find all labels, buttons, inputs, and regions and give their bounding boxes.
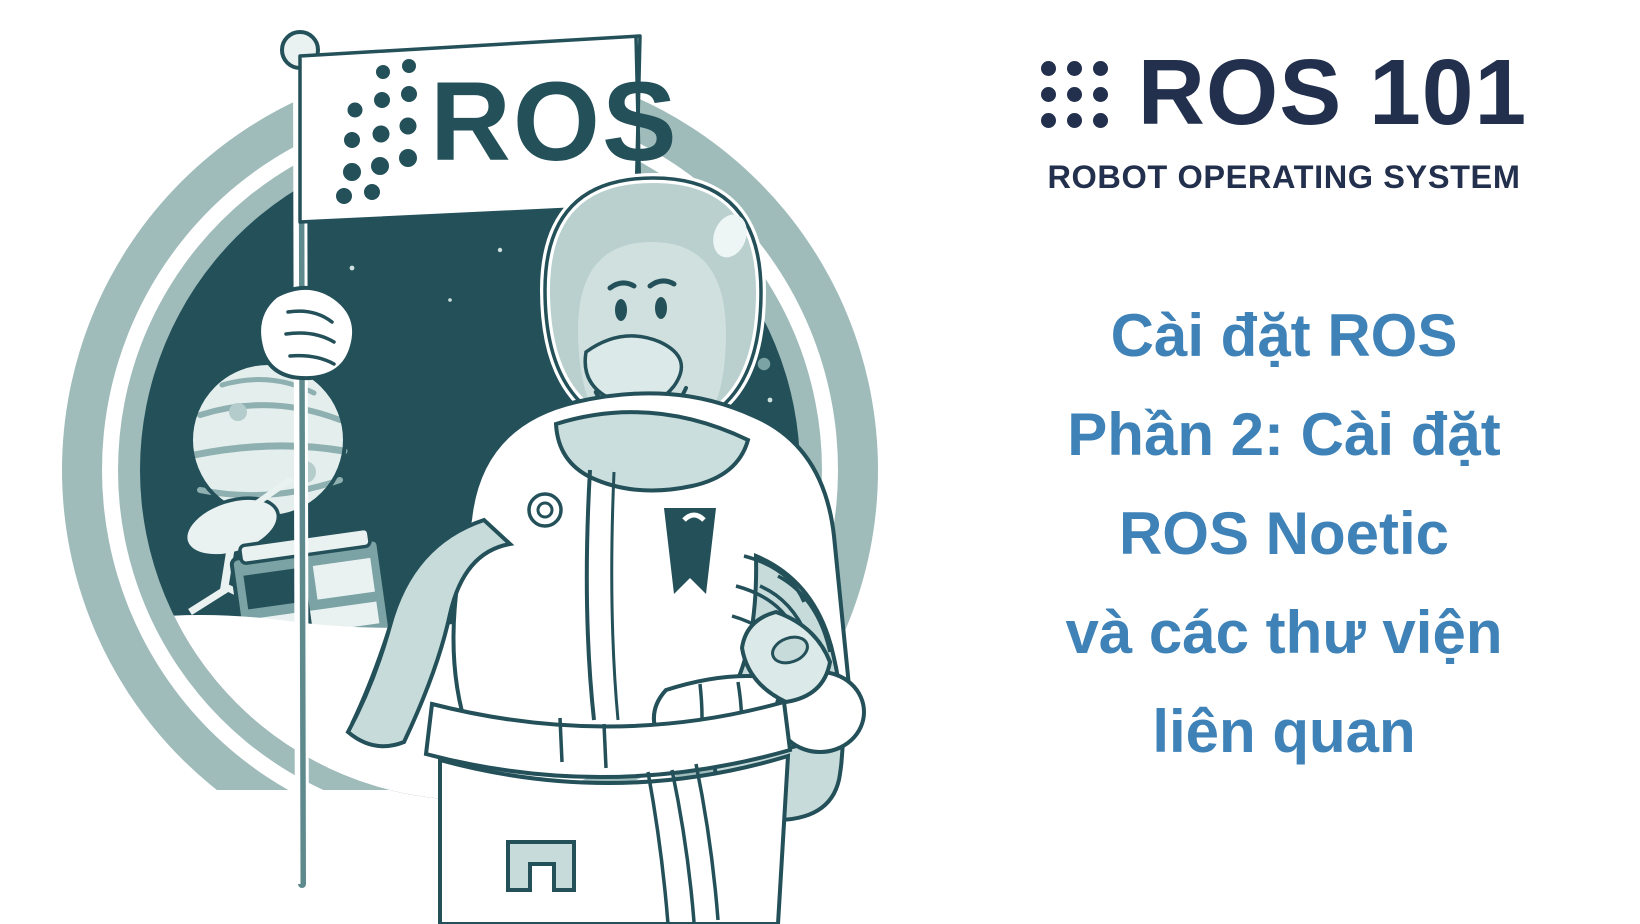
- lesson-title-line-5: liên quan: [952, 682, 1616, 781]
- grid-dot: [1041, 113, 1056, 128]
- grid-dot: [1041, 87, 1056, 102]
- grid-dot: [1067, 61, 1082, 76]
- grid-dot: [1093, 61, 1108, 76]
- text-pane: ROS 101 ROBOT OPERATING SYSTEM Cài đặt R…: [940, 0, 1640, 924]
- brand-title: ROS 101: [1138, 46, 1528, 139]
- illustration-pane: ROS: [0, 0, 940, 924]
- grid-dot: [1067, 113, 1082, 128]
- slide-root: ROS: [0, 0, 1640, 924]
- grid-dot: [1093, 113, 1108, 128]
- brand-subtitle: ROBOT OPERATING SYSTEM: [1047, 161, 1520, 194]
- ros-astronaut-illustration: ROS: [0, 0, 940, 924]
- lesson-title-line-4: và các thư viện: [952, 583, 1616, 682]
- lesson-title-line-2: Phần 2: Cài đặt: [952, 385, 1616, 484]
- brand-block: ROS 101 ROBOT OPERATING SYSTEM: [952, 46, 1616, 194]
- brand-row: ROS 101: [1041, 46, 1528, 139]
- legs: [440, 756, 788, 924]
- ros-dot-grid-icon: [1041, 61, 1108, 128]
- grid-dot: [1067, 87, 1082, 102]
- grid-dot: [1093, 87, 1108, 102]
- svg-text:ROS: ROS: [430, 59, 679, 184]
- grid-dot: [1041, 61, 1056, 76]
- lesson-title-line-3: ROS Noetic: [952, 484, 1616, 583]
- lesson-title-line-1: Cài đặt ROS: [952, 286, 1616, 385]
- lesson-title: Cài đặt ROS Phần 2: Cài đặt ROS Noetic v…: [952, 286, 1616, 781]
